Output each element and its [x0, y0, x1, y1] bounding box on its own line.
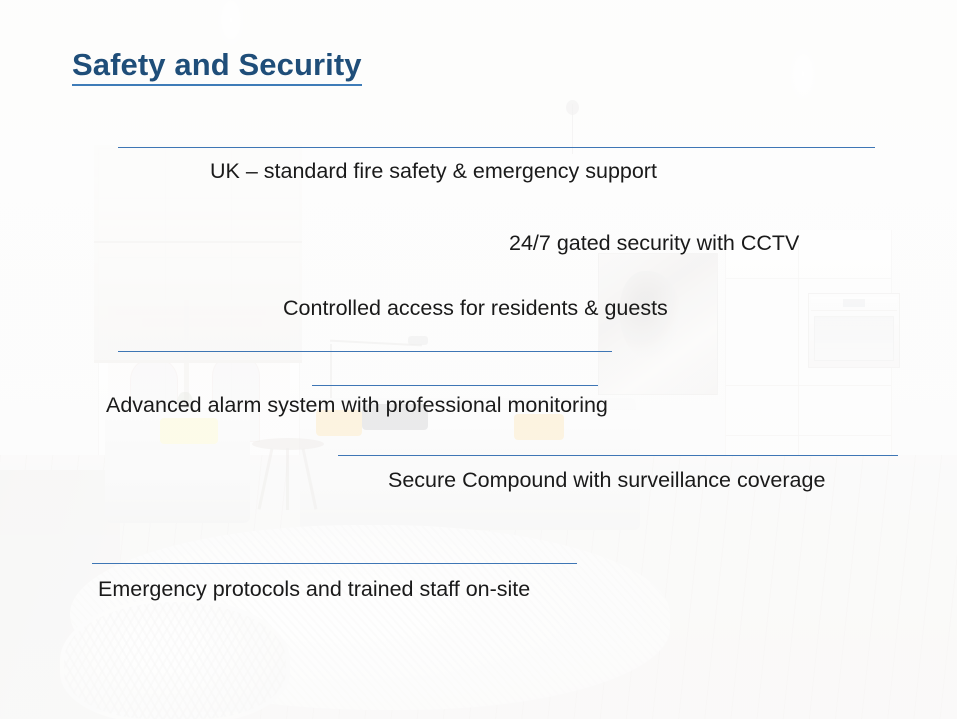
accent-rule-4 — [338, 455, 898, 456]
bullet-item-1: UK – standard fire safety & emergency su… — [210, 158, 657, 185]
accent-rule-2 — [118, 351, 612, 352]
accent-rule-1 — [118, 147, 875, 148]
bullet-item-5: Secure Compound with surveillance covera… — [388, 467, 825, 494]
slide-title: Safety and Security — [72, 48, 362, 86]
bullet-item-3: Controlled access for residents & guests — [283, 295, 668, 322]
bullet-item-2: 24/7 gated security with CCTV — [509, 230, 799, 257]
presentation-slide: Safety and Security UK – standard fire s… — [0, 0, 957, 719]
accent-rule-5 — [92, 563, 577, 564]
bullet-item-6: Emergency protocols and trained staff on… — [98, 576, 530, 603]
accent-rule-3 — [312, 385, 598, 386]
bullet-item-4: Advanced alarm system with professional … — [106, 392, 608, 419]
slide-content: Safety and Security UK – standard fire s… — [0, 0, 957, 719]
